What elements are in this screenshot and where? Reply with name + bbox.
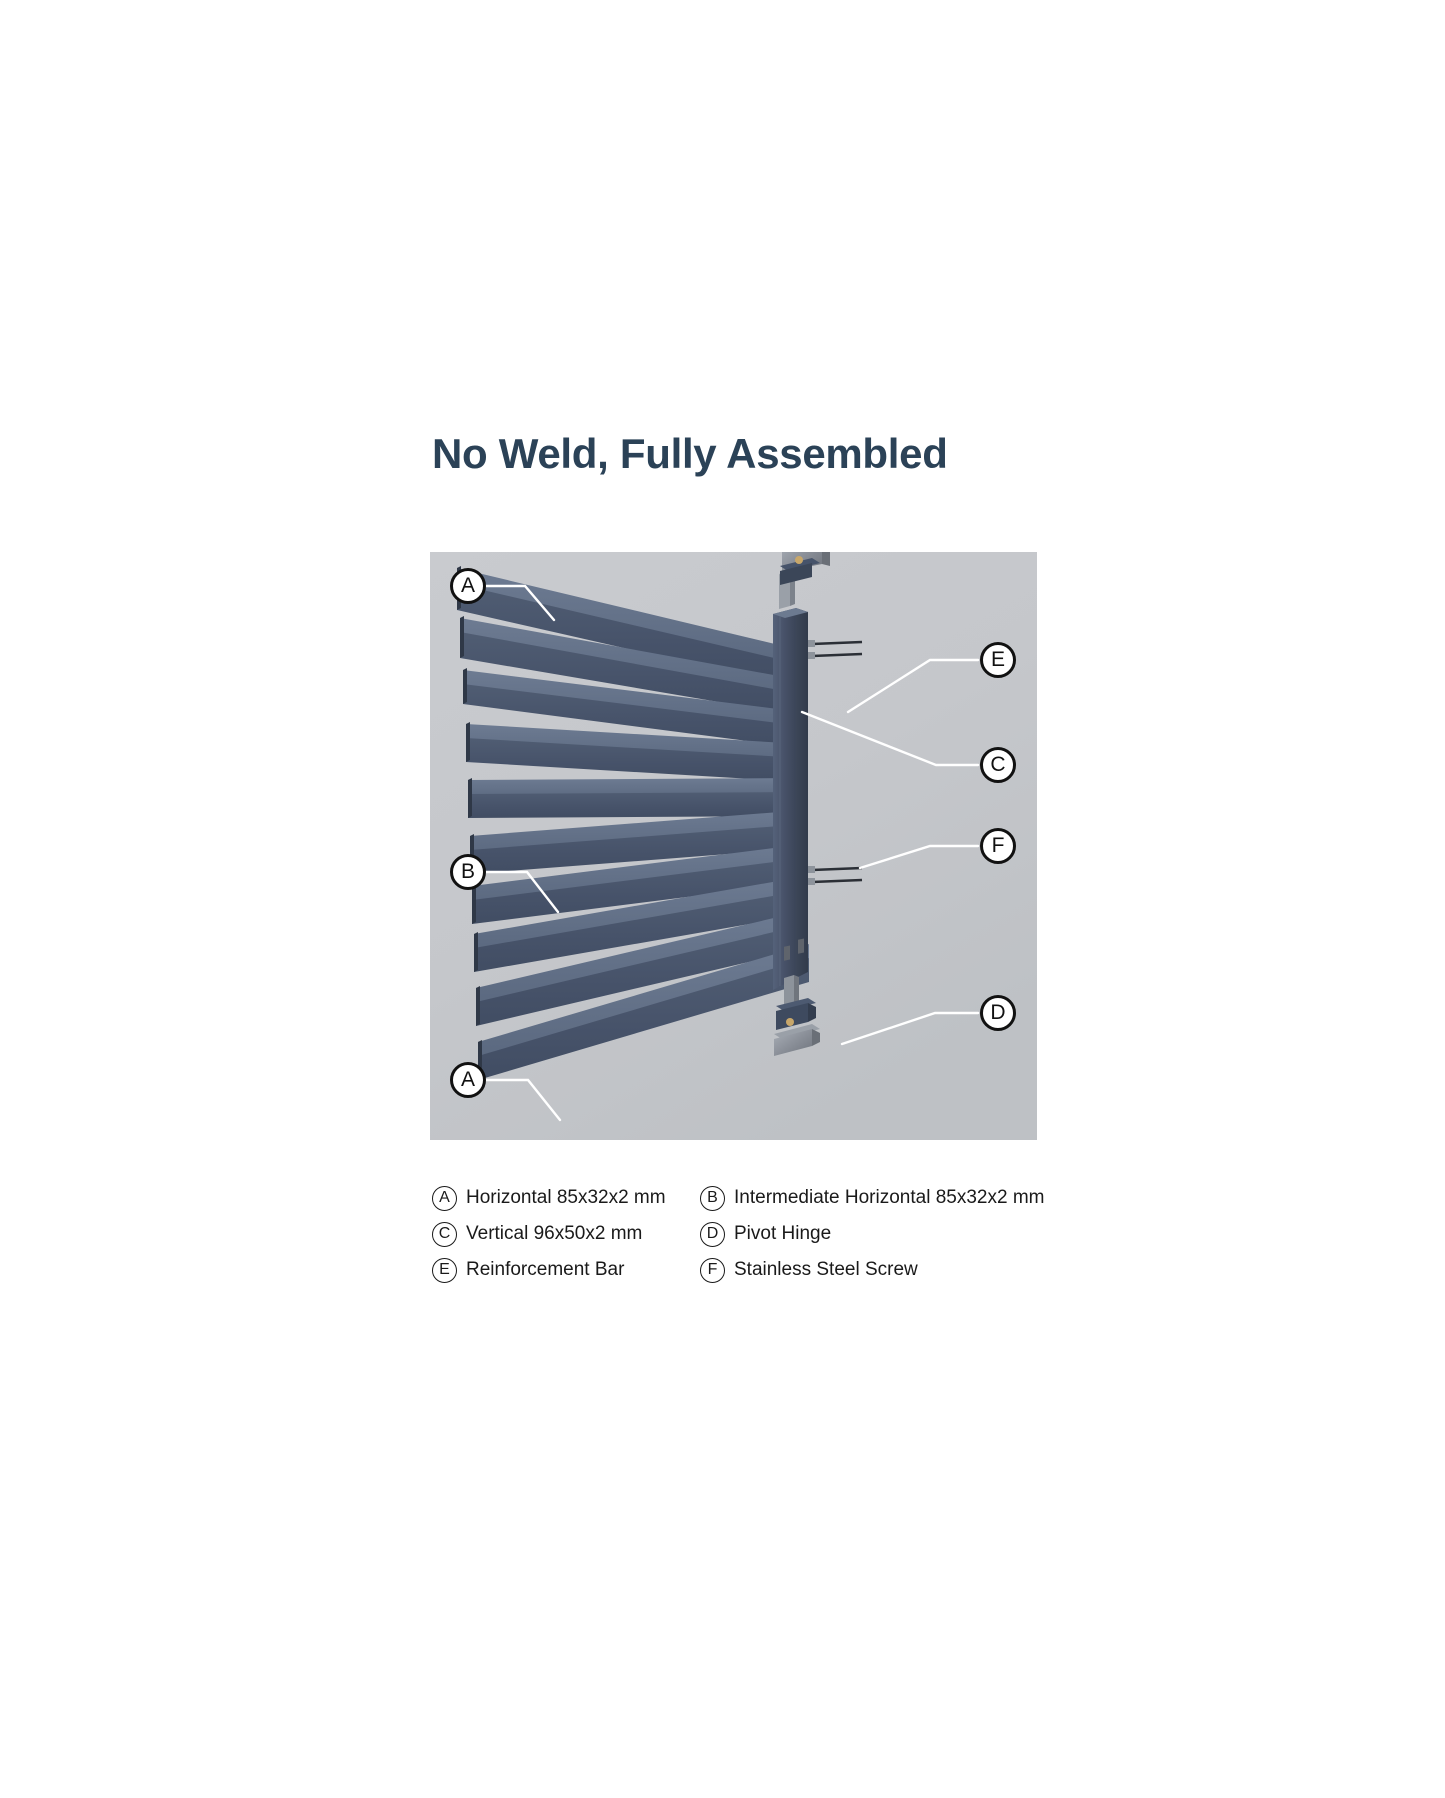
callout-e[interactable]: E [980, 642, 1016, 678]
legend-label-c: Vertical 96x50x2 mm [466, 1223, 642, 1245]
callout-f[interactable]: F [980, 828, 1016, 864]
exploded-gate-diagram [430, 552, 1037, 1140]
legend-mark-b: B [700, 1186, 725, 1211]
legend-item-c: C Vertical 96x50x2 mm [432, 1222, 700, 1247]
legend-label-b: Intermediate Horizontal 85x32x2 mm [734, 1187, 1044, 1209]
legend-item-f: F Stainless Steel Screw [700, 1258, 1050, 1283]
legend-label-a: Horizontal 85x32x2 mm [466, 1187, 666, 1209]
legend-row: A Horizontal 85x32x2 mm B Intermediate H… [432, 1180, 1052, 1216]
callout-d[interactable]: D [980, 995, 1016, 1031]
slat-5 [468, 778, 804, 818]
callout-c[interactable]: C [980, 747, 1016, 783]
legend-item-e: E Reinforcement Bar [432, 1258, 700, 1283]
legend-item-d: D Pivot Hinge [700, 1222, 1050, 1247]
legend-row: E Reinforcement Bar F Stainless Steel Sc… [432, 1252, 1052, 1288]
legend-row: C Vertical 96x50x2 mm D Pivot Hinge [432, 1216, 1052, 1252]
page-title: No Weld, Fully Assembled [432, 430, 948, 478]
legend-mark-d: D [700, 1222, 725, 1247]
vertical-post [773, 608, 808, 990]
callout-a-top[interactable]: A [450, 568, 486, 604]
legend-mark-f: F [700, 1258, 725, 1283]
legend-item-b: B Intermediate Horizontal 85x32x2 mm [700, 1186, 1050, 1211]
parts-legend: A Horizontal 85x32x2 mm B Intermediate H… [432, 1180, 1052, 1288]
legend-mark-a: A [432, 1186, 457, 1211]
legend-item-a: A Horizontal 85x32x2 mm [432, 1186, 700, 1211]
callout-a-bottom[interactable]: A [450, 1062, 486, 1098]
legend-label-e: Reinforcement Bar [466, 1259, 624, 1281]
legend-label-d: Pivot Hinge [734, 1223, 831, 1245]
legend-mark-e: E [432, 1258, 457, 1283]
legend-label-f: Stainless Steel Screw [734, 1259, 918, 1281]
callout-b[interactable]: B [450, 854, 486, 890]
legend-mark-c: C [432, 1222, 457, 1247]
product-illustration-panel: A B A E C F D [430, 552, 1037, 1140]
